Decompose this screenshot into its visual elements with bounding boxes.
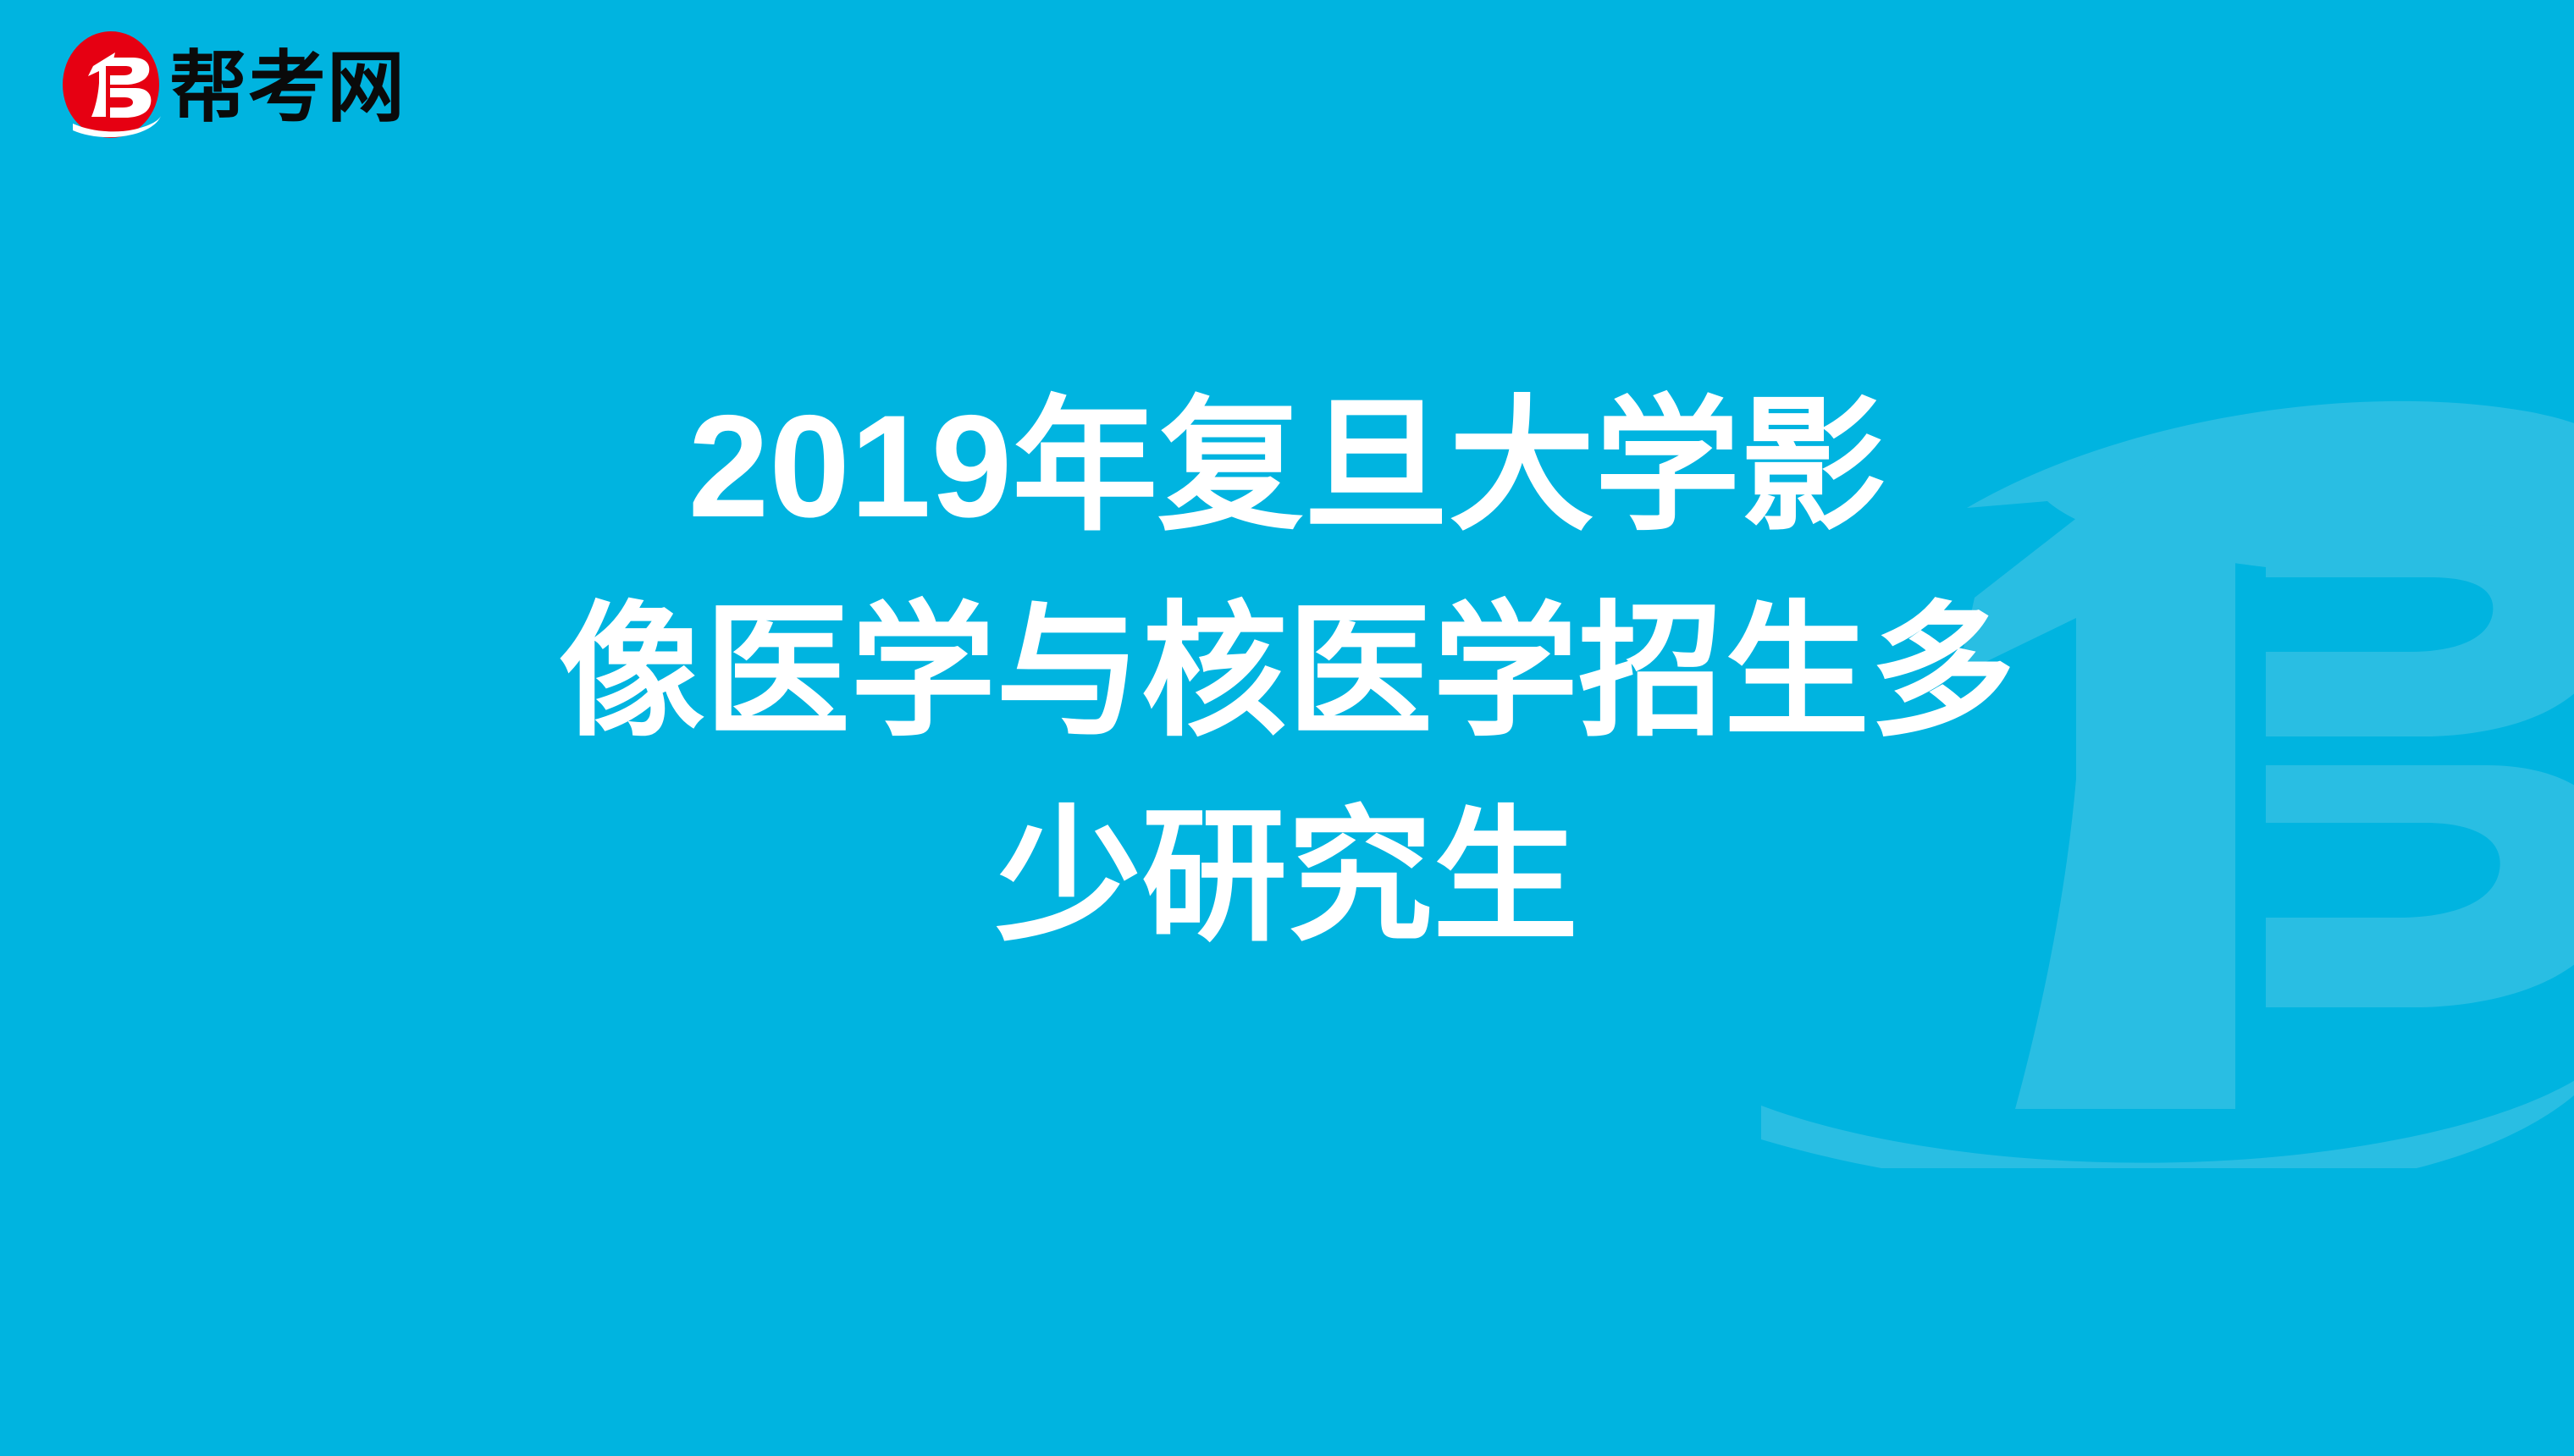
page-title-line-3: 少研究生	[119, 775, 2455, 980]
site-logo-wordmark: 帮考网	[169, 49, 406, 127]
page-title-line-1: 2019年复旦大学影	[119, 364, 2455, 570]
page-title-line-2: 像医学与核医学招生多	[119, 570, 2455, 775]
page-title: 2019年复旦大学影 像医学与核医学招生多 少研究生	[0, 364, 2574, 980]
title-card: 帮考网 2019年复旦大学影 像医学与核医学招生多 少研究生	[0, 0, 2574, 1456]
bangkao-b-roundel-icon	[61, 29, 161, 141]
site-logo[interactable]: 帮考网	[61, 22, 406, 147]
